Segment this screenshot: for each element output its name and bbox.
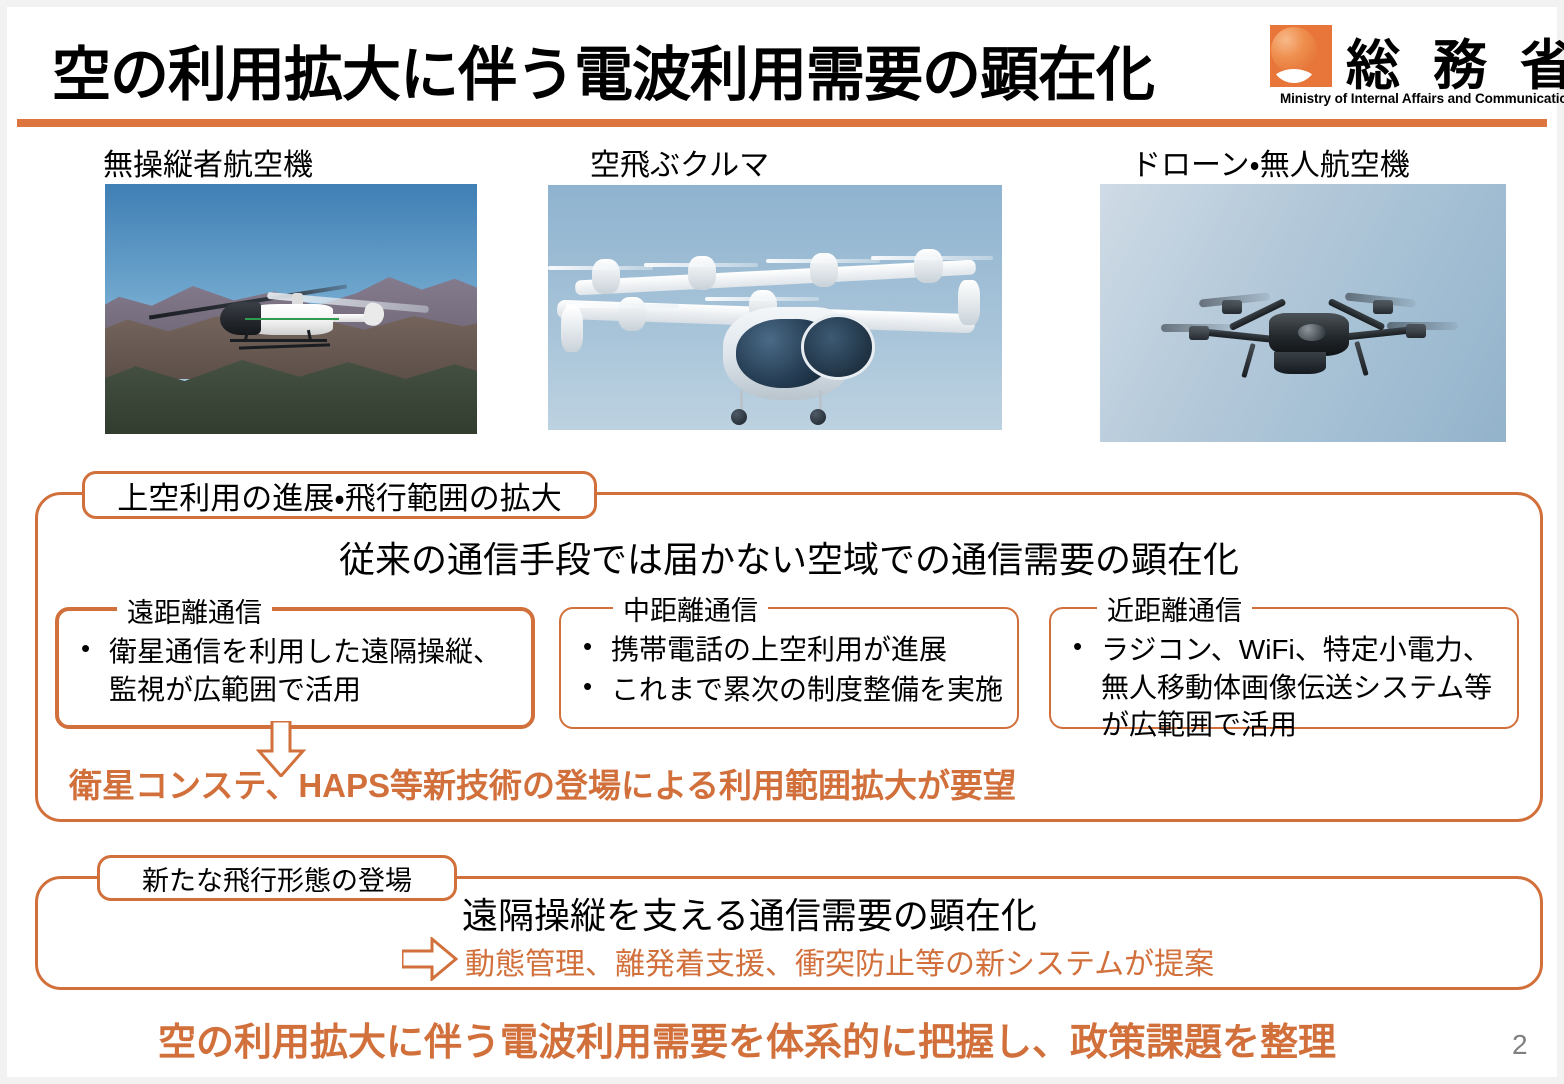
logo-kanji-text: 総 務 省 xyxy=(1346,21,1564,100)
section-top-headline: 従来の通信手段では届かない空域での通信需要の顕在化 xyxy=(35,531,1543,583)
box-medium-distance-label: 中距離通信 xyxy=(613,589,768,628)
footer-summary-message: 空の利用拡大に伴う電波利用需要を体系的に把握し、政策課題を整理 xyxy=(7,1011,1487,1066)
list-item: ラジコン、WiFi、特定小電力、無人移動体画像伝送システム等が広範囲で活用 xyxy=(1067,631,1503,744)
section-top-tab-label: 上空利用の進展・飛行範囲の拡大 xyxy=(82,471,597,519)
list-item: 携帯電話の上空利用が進展 xyxy=(577,631,1003,669)
arrow-right-outline-icon xyxy=(402,937,458,981)
photo-caption-flying-car: 空飛ぶクルマ xyxy=(590,140,769,184)
box-medium-distance-list: 携帯電話の上空利用が進展 これまで累次の制度整備を実施 xyxy=(577,631,1003,710)
evtol-flying-car-photo xyxy=(548,185,1002,430)
section-bottom-headline: 遠隔操縦を支える通信需要の顕在化 xyxy=(462,887,1037,939)
photo-caption-drone: ドローン・無人航空機 xyxy=(1131,140,1410,184)
box-long-distance-label: 遠距離通信 xyxy=(117,591,272,630)
header-divider xyxy=(17,119,1547,127)
note-new-technology-demand: 衛星コンステ、HAPS等新技術の登場による利用範囲拡大が要望 xyxy=(69,759,1016,807)
box-short-distance-communication: 近距離通信 ラジコン、WiFi、特定小電力、無人移動体画像伝送システム等が広範囲… xyxy=(1049,607,1519,729)
ministry-logo: 総 務 省 Ministry of Internal Affairs and C… xyxy=(1270,25,1545,113)
box-short-distance-label: 近距離通信 xyxy=(1097,589,1252,628)
page-title: 空の利用拡大に伴う電波利用需要の顕在化 xyxy=(52,27,1154,112)
list-item: 衛星通信を利用した遠隔操縦、監視が広範囲で活用 xyxy=(75,633,517,708)
box-long-distance-communication: 遠距離通信 衛星通信を利用した遠隔操縦、監視が広範囲で活用 xyxy=(55,607,535,729)
logo-subtitle-text: Ministry of Internal Affairs and Communi… xyxy=(1280,91,1564,106)
section-bottom-tab-label: 新たな飛行形態の登場 xyxy=(97,855,457,901)
photo-caption-unmanned-aircraft: 無操縦者航空機 xyxy=(103,140,313,184)
unmanned-helicopter-over-mountains-photo xyxy=(105,184,477,434)
arrow-down-outline-icon xyxy=(255,721,307,777)
page-number: 2 xyxy=(1512,1029,1528,1061)
slide-canvas: 空の利用拡大に伴う電波利用需要の顕在化 総 務 省 Ministry of In… xyxy=(7,7,1557,1077)
box-short-distance-list: ラジコン、WiFi、特定小電力、無人移動体画像伝送システム等が広範囲で活用 xyxy=(1067,631,1503,746)
box-long-distance-list: 衛星通信を利用した遠隔操縦、監視が広範囲で活用 xyxy=(75,633,517,710)
list-item: これまで累次の制度整備を実施 xyxy=(577,671,1003,709)
multirotor-drone-photo xyxy=(1100,184,1506,442)
note-new-systems-proposed: 動態管理、離発着支援、衝突防止等の新システムが提案 xyxy=(465,939,1214,983)
mic-logo-mark-icon xyxy=(1270,25,1332,87)
box-medium-distance-communication: 中距離通信 携帯電話の上空利用が進展 これまで累次の制度整備を実施 xyxy=(559,607,1019,729)
